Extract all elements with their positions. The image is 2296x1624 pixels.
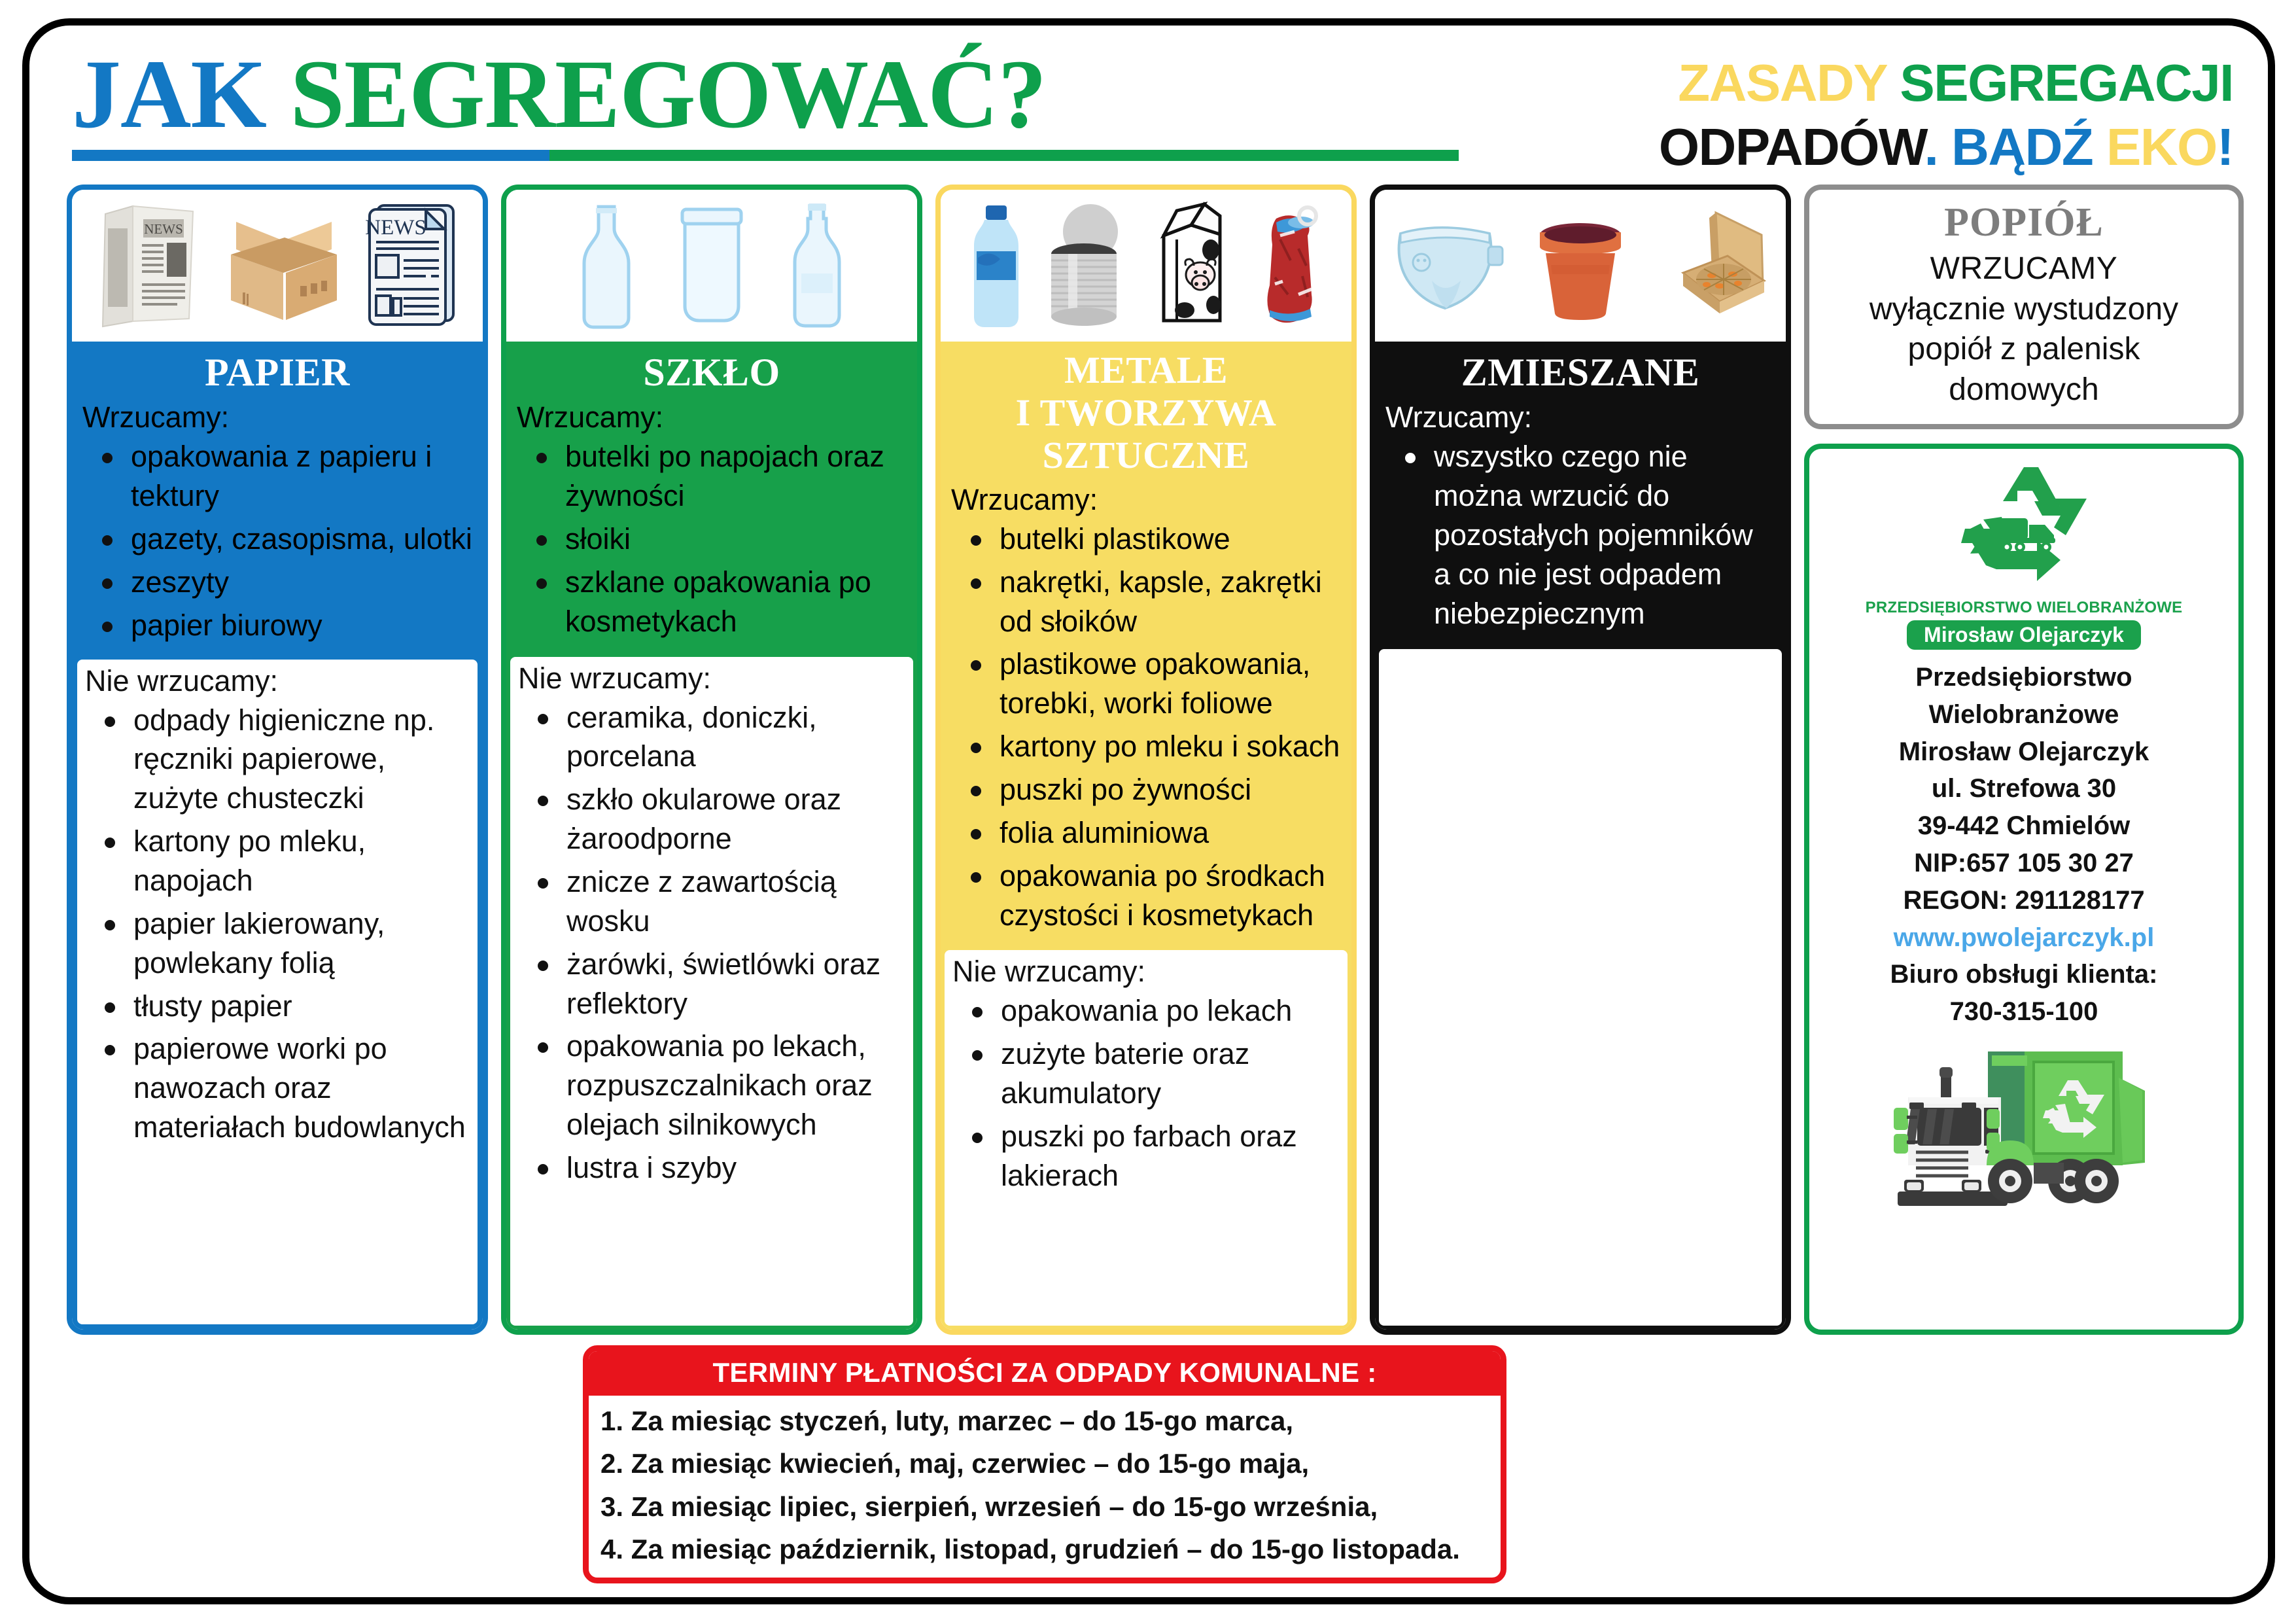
diaper-icon (1390, 209, 1514, 323)
szklo-illustrations (506, 190, 917, 342)
cardboard-box-icon (222, 209, 346, 323)
svg-text:NEWS: NEWS (144, 221, 183, 237)
list-item: szkło okularowe oraz żaroodporne (532, 780, 905, 858)
category-card-metale[interactable]: METALE I TWORZYWA SZTUCZNE Wrzucamy: but… (935, 185, 1357, 1335)
list-item: folia aluminiowa (965, 813, 1342, 853)
list-item: zeszyty (97, 563, 474, 602)
popiol-line-2: wyłącznie wystudzony (1821, 289, 2227, 329)
logo-caption-top: PRZEDSIĘBIORSTWO WIELOBRANŻOWE (1866, 599, 2183, 617)
popiol-line-1: WRZUCAMY (1821, 249, 2227, 289)
zmieszane-no-list: przeterminowanych leków, chemikaliów zuż… (1379, 689, 1782, 1154)
list-item: zużyte baterie oraz akumulatory (967, 1034, 1340, 1113)
metale-band: METALE I TWORZYWA SZTUCZNE Wrzucamy: but… (941, 342, 1351, 1330)
list-item: zużytego sprzętu elektronicznego i AGD (1401, 772, 1774, 851)
szklo-no-list: ceramika, doniczki, porcelana szkło okul… (510, 697, 913, 1201)
garbage-truck-illustration (1870, 1034, 2178, 1214)
popiol-line-3: popiół z palenisk (1821, 329, 2227, 369)
subtitle-word-segregacji: SEGREGACJI (1900, 54, 2233, 112)
list-item: ceramika, doniczki, porcelana (532, 698, 905, 777)
popiol-line-4: domowych (1821, 370, 2227, 410)
company-city: 39-442 Chmielów (1818, 807, 2229, 845)
list-item: wszystko czego nie można wrzucić do pozo… (1400, 437, 1777, 633)
company-nip: NIP:657 105 30 27 (1818, 845, 2229, 882)
list-item: opakowania po lekach (967, 991, 1340, 1031)
company-logo (1926, 461, 2122, 601)
metale-no-panel: Nie wrzucamy: opakowania po lekach zużyt… (945, 950, 1348, 1326)
page-title: JAK SEGREGOWAĆ? (72, 44, 1459, 145)
garbage-truck-icon (1870, 1034, 2178, 1211)
list-item: puszki po żywności (965, 770, 1342, 809)
company-office-label: Biuro obsługi klienta: (1818, 956, 2229, 993)
poster-header: JAK SEGREGOWAĆ? ZASADY SEGREGACJI ODPADÓ… (67, 41, 2238, 183)
list-item: żarówki, świetlówki oraz reflektory (532, 945, 905, 1023)
list-item: butelki plastikowe (965, 520, 1342, 559)
payment-terms-list: 1. Za miesiąc styczeń, luty, marzec – do… (589, 1396, 1501, 1578)
papier-illustrations: NEWS (72, 190, 483, 342)
subtitle-word-zasady: ZASADY (1678, 54, 1900, 112)
company-regon: REGON: 291128177 (1818, 882, 2229, 919)
szklo-band: SZKŁO Wrzucamy: butelki po napojach oraz… (506, 342, 917, 1330)
company-website-link[interactable]: www.pwolejarczyk.pl (1818, 919, 2229, 957)
news-document-icon: NEWS (363, 200, 461, 331)
list-item: kartony po mleku i sokach (965, 727, 1342, 766)
metale-yes-label: Wrzucamy: (941, 482, 1351, 518)
glass-bottle-icon (567, 200, 646, 331)
right-column: POPIÓŁ WRZUCAMY wyłącznie wystudzony pop… (1804, 185, 2244, 1335)
list-item: butelki po napojach oraz żywności (531, 437, 908, 516)
zmieszane-yes-label: Wrzucamy: (1375, 400, 1786, 436)
payment-terms-heading: TERMINY PŁATNOŚCI ZA ODPADY KOMUNALNE : (589, 1351, 1501, 1396)
zmieszane-no-panel: Nie wrzucamy: przeterminowanych leków, c… (1379, 649, 1782, 1326)
company-contact-box: PRZEDSIĘBIORSTWO WIELOBRANŻOWE Mirosław … (1804, 444, 2244, 1335)
soda-bottle-icon (778, 200, 856, 331)
main-title-block: JAK SEGREGOWAĆ? (67, 44, 1459, 161)
subtitle-line-2: ODPADÓW. BĄDŹ EKO! (1659, 115, 2233, 179)
subtitle-line-1: ZASADY SEGREGACJI (1659, 51, 2233, 115)
svg-text:NEWS: NEWS (365, 216, 426, 239)
list-item: kartony po mleku, napojach (99, 822, 470, 900)
papier-yes-list: opakowania z papieru i tektury gazety, c… (72, 436, 483, 658)
subtitle-exclamation: ! (2217, 118, 2233, 176)
poster-content: JAK SEGREGOWAĆ? ZASADY SEGREGACJI ODPADÓ… (30, 26, 2267, 1597)
title-word-jak: JAK (72, 40, 290, 149)
payment-terms-box: TERMINY PŁATNOŚCI ZA ODPADY KOMUNALNE : … (583, 1345, 1506, 1583)
list-item: odpadów budowlanych oraz rozbiórkowych (1401, 1019, 1774, 1097)
company-phone: 730-315-100 (1818, 993, 2229, 1031)
list-item: zużytych baterii oraz akumulatorów (1401, 855, 1774, 933)
title-underline (72, 150, 1459, 161)
list-item: przeterminowanych leków, chemikaliów (1401, 690, 1774, 769)
category-card-zmieszane[interactable]: ZMIESZANE Wrzucamy: wszystko czego nie m… (1370, 185, 1791, 1335)
category-card-papier[interactable]: NEWS (67, 185, 488, 1335)
list-item: słoiki (531, 520, 908, 559)
category-title-metale-line2: I TWORZYWA (946, 392, 1346, 434)
tin-can-icon (1045, 200, 1131, 331)
list-item: szklane opakowania po kosmetykach (531, 563, 908, 641)
list-item: opakowania z papieru i tektury (97, 437, 474, 516)
subtitle-word-odpadow: ODPADÓW (1659, 118, 1924, 176)
glass-jar-icon (663, 200, 761, 331)
newspaper-icon: NEWS (94, 202, 205, 330)
zmieszane-no-label: Nie wrzucamy: (1379, 653, 1782, 689)
category-title-zmieszane: ZMIESZANE (1375, 342, 1786, 400)
list-item: gazety, czasopisma, ulotki (97, 520, 474, 559)
list-item: mebli i innych odpadów wielkogabarytowyc… (1401, 937, 1774, 1015)
category-columns: NEWS (67, 183, 2238, 1335)
list-item: zużytych opon (1401, 1101, 1774, 1140)
category-title-metale: METALE I TWORZYWA SZTUCZNE (941, 342, 1351, 482)
list-item: lustra i szyby (532, 1148, 905, 1188)
category-title-papier: PAPIER (72, 342, 483, 400)
szklo-no-label: Nie wrzucamy: (510, 661, 913, 697)
zmieszane-band: ZMIESZANE Wrzucamy: wszystko czego nie m… (1375, 342, 1786, 1330)
list-item: papier biurowy (97, 606, 474, 645)
list-item: papier lakierowany, powlekany folią (99, 904, 470, 983)
title-underline-blue (72, 150, 549, 161)
list-item: puszki po farbach oraz lakierach (967, 1117, 1340, 1195)
company-contact-details: Przedsiębiorstwo Wielobranżowe Mirosław … (1818, 659, 2229, 1031)
popiol-title: POPIÓŁ (1821, 200, 2227, 245)
papier-yes-label: Wrzucamy: (72, 400, 483, 436)
papier-band: PAPIER Wrzucamy: opakowania z papieru i … (72, 342, 483, 1330)
papier-no-label: Nie wrzucamy: (77, 663, 478, 699)
category-card-szklo[interactable]: SZKŁO Wrzucamy: butelki po napojach oraz… (501, 185, 922, 1335)
company-name-line1: Przedsiębiorstwo Wielobranżowe (1818, 659, 2229, 733)
crushed-can-icon (1251, 200, 1327, 331)
payment-term-item: 4. Za miesiąc październik, listopad, gru… (600, 1528, 1490, 1571)
category-title-metale-line1: METALE (946, 349, 1346, 392)
popiol-box: POPIÓŁ WRZUCAMY wyłącznie wystudzony pop… (1804, 185, 2244, 429)
title-underline-green (549, 150, 1459, 161)
metale-no-label: Nie wrzucamy: (945, 954, 1348, 990)
papier-no-list: odpady higieniczne np. ręczniki papierow… (77, 699, 478, 1160)
company-street: ul. Strefowa 30 (1818, 770, 2229, 807)
plastic-bottle-icon (965, 200, 1028, 331)
flower-pot-icon (1531, 209, 1629, 323)
recycling-truck-logo-icon (1926, 461, 2122, 598)
subtitle-dot: . (1924, 118, 1951, 176)
subtitle-block: ZASADY SEGREGACJI ODPADÓW. BĄDŹ EKO! (1659, 44, 2238, 179)
list-item: tłusty papier (99, 987, 470, 1026)
payment-term-item: 1. Za miesiąc styczeń, luty, marzec – do… (600, 1400, 1490, 1443)
subtitle-word-eko: EKO (2106, 118, 2217, 176)
milk-carton-icon (1148, 200, 1234, 331)
payment-term-item: 3. Za miesiąc lipiec, sierpień, wrzesień… (600, 1485, 1490, 1528)
list-item: opakowania po środkach czystości i kosme… (965, 856, 1342, 935)
zmieszane-illustrations (1375, 190, 1786, 342)
poster-root: JAK SEGREGOWAĆ? ZASADY SEGREGACJI ODPADÓ… (0, 0, 2296, 1624)
category-title-szklo: SZKŁO (506, 342, 917, 400)
papier-no-panel: Nie wrzucamy: odpady higieniczne np. ręc… (77, 660, 478, 1324)
list-item: papierowe worki po nawozach oraz materia… (99, 1029, 470, 1147)
payment-term-item: 2. Za miesiąc kwiecień, maj, czerwiec – … (600, 1442, 1490, 1485)
list-item: nakrętki, kapsle, zakrętki od słoików (965, 563, 1342, 641)
szklo-yes-label: Wrzucamy: (506, 400, 917, 436)
company-name-line2: Mirosław Olejarczyk (1818, 733, 2229, 771)
szklo-no-panel: Nie wrzucamy: ceramika, doniczki, porcel… (510, 657, 913, 1326)
szklo-yes-list: butelki po napojach oraz żywności słoiki… (506, 436, 917, 654)
list-item: odpady higieniczne np. ręczniki papierow… (99, 701, 470, 819)
metale-illustrations (941, 190, 1351, 342)
terms-section: TERMINY PŁATNOŚCI ZA ODPADY KOMUNALNE : … (67, 1335, 2238, 1583)
pizza-box-icon (1646, 209, 1771, 323)
metale-yes-list: butelki plastikowe nakrętki, kapsle, zak… (941, 518, 1351, 947)
subtitle-word-badz: BĄDŹ (1951, 118, 2106, 176)
category-title-metale-line3: SZTUCZNE (946, 434, 1346, 477)
zmieszane-yes-list: wszystko czego nie można wrzucić do pozo… (1375, 436, 1786, 646)
logo-caption-bottom: Mirosław Olejarczyk (1907, 620, 2141, 650)
list-item: opakowania po lekach, rozpuszczalnikach … (532, 1027, 905, 1144)
metale-no-list: opakowania po lekach zużyte baterie oraz… (945, 990, 1348, 1208)
list-item: znicze z zawartością wosku (532, 862, 905, 941)
title-word-segregowac: SEGREGOWAĆ? (290, 40, 1047, 149)
list-item: plastikowe opakowania, torebki, worki fo… (965, 644, 1342, 723)
